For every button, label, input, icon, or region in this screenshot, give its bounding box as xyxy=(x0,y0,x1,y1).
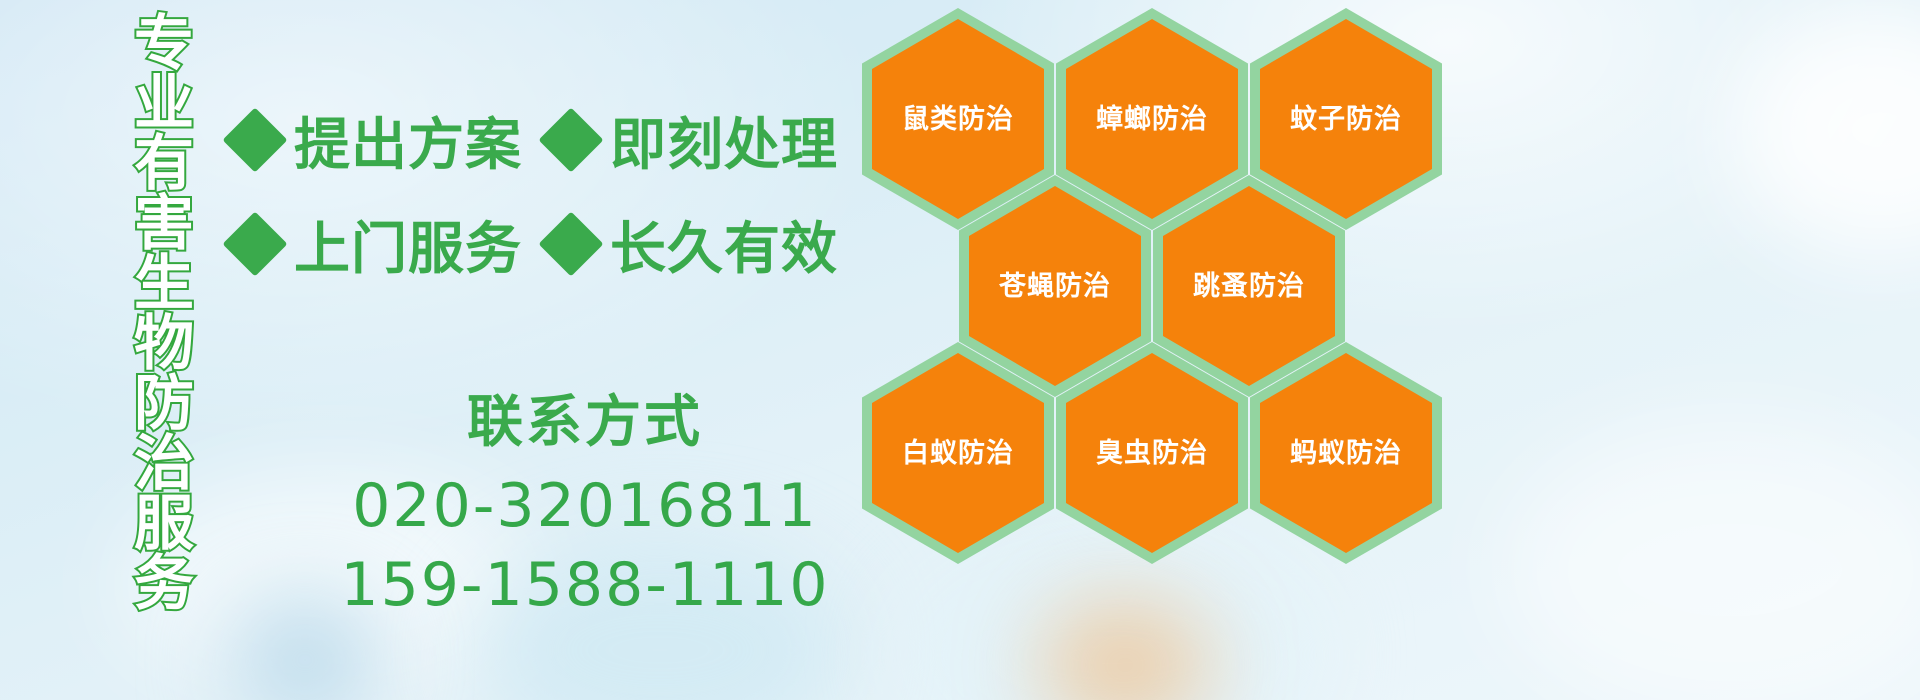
vertical-headline: 专 业 有 害 生 物 防 治 服 务 xyxy=(112,14,216,574)
hex-label: 苍蝇防治 xyxy=(999,273,1111,300)
vertical-headline-char: 生 xyxy=(134,254,194,314)
contact-block: 联系方式 020-32016811 159-1588-1110 xyxy=(300,392,870,625)
feature-label: 提出方案 xyxy=(294,100,522,181)
feature-list: 提出方案 即刻处理 上门服务 长久有效 xyxy=(232,88,872,296)
diamond-icon xyxy=(222,107,287,172)
vertical-headline-char: 防 xyxy=(134,374,194,434)
vertical-headline-char: 专 xyxy=(134,14,194,74)
feature-item: 长久有效 xyxy=(548,204,838,285)
hex-label: 蚊子防治 xyxy=(1290,106,1402,133)
hex-label: 臭虫防治 xyxy=(1096,440,1208,467)
background-blob xyxy=(1730,0,1920,260)
diamond-icon xyxy=(538,107,603,172)
contact-phone-landline[interactable]: 020-32016811 xyxy=(300,467,870,546)
background-blob xyxy=(1500,420,1920,700)
vertical-headline-char: 务 xyxy=(134,554,194,614)
pest-control-banner: 专 业 有 害 生 物 防 治 服 务 提出方案 即刻处理 上门服务 xyxy=(0,0,1920,700)
vertical-headline-char: 有 xyxy=(134,134,194,194)
feature-item: 提出方案 xyxy=(232,100,522,181)
vertical-headline-char: 物 xyxy=(134,314,194,374)
feature-item: 即刻处理 xyxy=(548,100,838,181)
hex-label: 跳蚤防治 xyxy=(1193,273,1305,300)
hex-label: 白蚁防治 xyxy=(902,440,1014,467)
vertical-headline-char: 业 xyxy=(134,74,194,134)
vertical-headline-char: 害 xyxy=(134,194,194,254)
hex-label: 鼠类防治 xyxy=(902,106,1014,133)
feature-label: 长久有效 xyxy=(610,204,838,285)
diamond-icon xyxy=(538,211,603,276)
feature-row: 上门服务 长久有效 xyxy=(232,192,872,296)
hex-label: 蟑螂防治 xyxy=(1096,106,1208,133)
feature-item: 上门服务 xyxy=(232,204,522,285)
hex-label: 蚂蚁防治 xyxy=(1290,440,1402,467)
vertical-headline-char: 治 xyxy=(134,434,194,494)
background-blob xyxy=(900,540,1320,700)
feature-label: 即刻处理 xyxy=(610,100,838,181)
contact-phone-mobile[interactable]: 159-1588-1110 xyxy=(300,546,870,625)
feature-label: 上门服务 xyxy=(294,204,522,285)
background-blob xyxy=(1040,600,1210,700)
contact-title: 联系方式 xyxy=(300,392,870,455)
vertical-headline-char: 服 xyxy=(134,494,194,554)
diamond-icon xyxy=(222,211,287,276)
feature-row: 提出方案 即刻处理 xyxy=(232,88,872,192)
service-honeycomb: 鼠类防治 蟑螂防治 蚊子防治 苍蝇防治 跳蚤防治 白蚁防治 臭虫防治 xyxy=(862,0,1462,560)
